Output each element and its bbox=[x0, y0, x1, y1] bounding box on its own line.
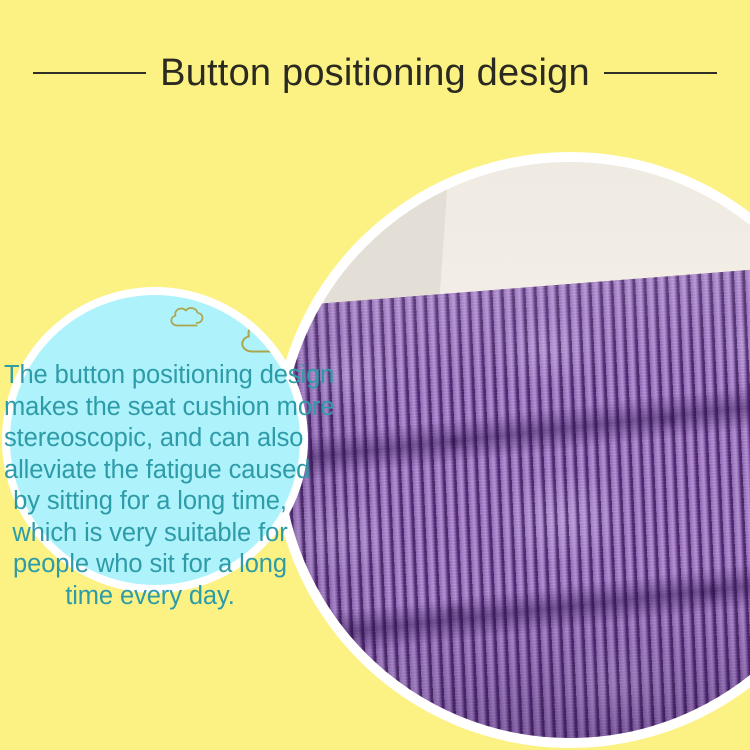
product-photo-circle bbox=[282, 162, 750, 738]
right-decorative-rule bbox=[604, 72, 717, 74]
info-circle bbox=[10, 295, 300, 585]
left-decorative-rule bbox=[33, 72, 146, 74]
product-infographic: The button positioning design makes the … bbox=[0, 0, 750, 750]
cushion-shading bbox=[282, 256, 750, 738]
cloud-icon-large bbox=[238, 317, 300, 366]
header: Button positioning design bbox=[0, 44, 750, 102]
page-title: Button positioning design bbox=[160, 50, 590, 96]
cloud-icon-small bbox=[168, 304, 208, 337]
seat-cushion-image bbox=[282, 256, 750, 738]
